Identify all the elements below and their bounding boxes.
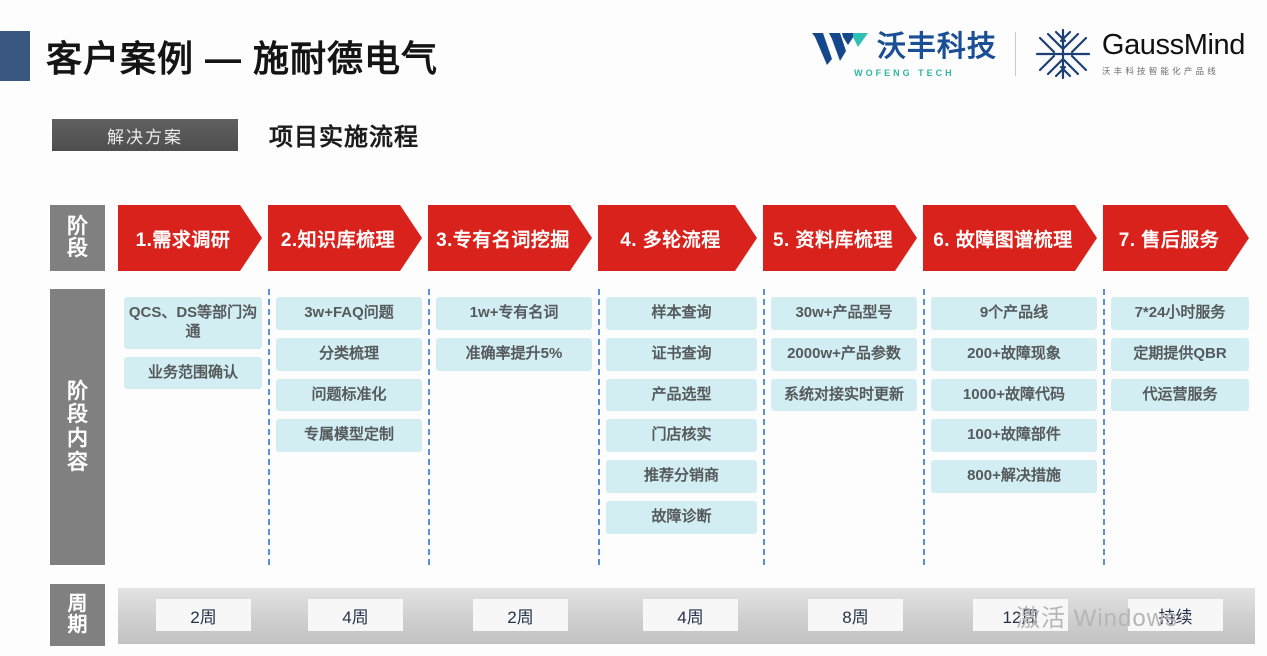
content-chip[interactable]: 故障诊断	[606, 501, 757, 534]
row-label-period-text: 周期	[66, 594, 90, 636]
phase-content-column-3: 1w+专有名词准确率提升5%	[428, 289, 598, 565]
phase-content-column-4: 样本查询证书查询产品选型门店核实推荐分销商故障诊断	[598, 289, 763, 565]
content-chip[interactable]: 9个产品线	[931, 297, 1097, 330]
logo-group: 沃丰科技 WOFENG TECH	[812, 28, 1245, 80]
gaussmind-mark-icon	[1034, 28, 1092, 80]
content-chip[interactable]: 专属模型定制	[276, 419, 422, 452]
content-chip[interactable]: 问题标准化	[276, 379, 422, 412]
content-chip[interactable]: 200+故障现象	[931, 338, 1097, 371]
phase-arrow-1[interactable]: 1.需求调研	[118, 205, 262, 271]
phase-arrow-6[interactable]: 6. 故障图谱梳理	[923, 205, 1097, 271]
row-label-stage: 阶段	[50, 205, 105, 271]
phase-arrow-3[interactable]: 3.专有名词挖掘	[428, 205, 592, 271]
content-chip[interactable]: 证书查询	[606, 338, 757, 371]
content-chip[interactable]: 门店核实	[606, 419, 757, 452]
row-label-period: 周期	[50, 584, 105, 646]
phase-period-row: 2周4周2周4周8周12周持续	[118, 588, 1255, 644]
period-chip-1[interactable]: 2周	[156, 599, 251, 631]
gaussmind-logo: GaussMind 沃丰科技智能化产品线	[1034, 28, 1245, 80]
header-accent-block	[0, 31, 30, 81]
content-chip[interactable]: 准确率提升5%	[436, 338, 592, 371]
row-label-stage-content: 阶段内容	[50, 289, 105, 565]
content-chip[interactable]: 样本查询	[606, 297, 757, 330]
content-chip[interactable]: 3w+FAQ问题	[276, 297, 422, 330]
content-chip[interactable]: 分类梳理	[276, 338, 422, 371]
content-chip[interactable]: QCS、DS等部门沟通	[124, 297, 262, 349]
phase-content-column-5: 30w+产品型号2000w+产品参数系统对接实时更新	[763, 289, 923, 565]
phase-arrow-2[interactable]: 2.知识库梳理	[268, 205, 422, 271]
logo-divider	[1015, 32, 1016, 76]
period-chip-4[interactable]: 4周	[643, 599, 738, 631]
period-chip-7[interactable]: 持续	[1128, 599, 1223, 631]
period-chip-2[interactable]: 4周	[308, 599, 403, 631]
content-chip[interactable]: 定期提供QBR	[1111, 338, 1249, 371]
phase-arrow-7[interactable]: 7. 售后服务	[1103, 205, 1249, 271]
row-label-stage-text: 阶段	[65, 216, 90, 260]
phase-arrow-4[interactable]: 4. 多轮流程	[598, 205, 757, 271]
content-chip[interactable]: 推荐分销商	[606, 460, 757, 493]
phase-content-column-7: 7*24小时服务定期提供QBR代运营服务	[1103, 289, 1255, 565]
phase-arrow-5[interactable]: 5. 资料库梳理	[763, 205, 917, 271]
section-chip: 解决方案	[52, 119, 238, 151]
wofeng-logo-cn: 沃丰科技	[877, 33, 997, 62]
phase-arrow-row: 1.需求调研2.知识库梳理3.专有名词挖掘4. 多轮流程5. 资料库梳理6. 故…	[118, 205, 1255, 271]
row-label-stage-content-text: 阶段内容	[65, 380, 90, 474]
phase-content-column-2: 3w+FAQ问题分类梳理问题标准化专属模型定制	[268, 289, 428, 565]
period-chip-6[interactable]: 12周	[973, 599, 1068, 631]
content-chip[interactable]: 代运营服务	[1111, 379, 1249, 412]
content-chip[interactable]: 1000+故障代码	[931, 379, 1097, 412]
section-title: 项目实施流程	[269, 117, 419, 152]
content-chip[interactable]: 800+解决措施	[931, 460, 1097, 493]
page-title: 客户案例 — 施耐德电气	[46, 30, 438, 82]
content-chip[interactable]: 7*24小时服务	[1111, 297, 1249, 330]
period-chip-5[interactable]: 8周	[808, 599, 903, 631]
content-chip[interactable]: 产品选型	[606, 379, 757, 412]
phase-content-column-6: 9个产品线200+故障现象1000+故障代码100+故障部件800+解决措施	[923, 289, 1103, 565]
wofeng-logo: 沃丰科技 WOFENG TECH	[812, 31, 997, 78]
phase-content-row: QCS、DS等部门沟通业务范围确认3w+FAQ问题分类梳理问题标准化专属模型定制…	[118, 289, 1255, 565]
wofeng-w-icon	[812, 31, 868, 65]
content-chip[interactable]: 2000w+产品参数	[771, 338, 917, 371]
content-chip[interactable]: 100+故障部件	[931, 419, 1097, 452]
wofeng-logo-en: WOFENG TECH	[854, 68, 955, 78]
content-chip[interactable]: 1w+专有名词	[436, 297, 592, 330]
content-chip[interactable]: 系统对接实时更新	[771, 379, 917, 412]
content-chip[interactable]: 业务范围确认	[124, 357, 262, 390]
content-chip[interactable]: 30w+产品型号	[771, 297, 917, 330]
gaussmind-logo-name: GaussMind	[1102, 31, 1245, 60]
phase-content-column-1: QCS、DS等部门沟通业务范围确认	[118, 289, 268, 565]
period-chip-3[interactable]: 2周	[473, 599, 568, 631]
slide-canvas: 客户案例 — 施耐德电气 沃丰科技 WOFENG TECH	[0, 0, 1267, 656]
gaussmind-logo-sub: 沃丰科技智能化产品线	[1102, 65, 1245, 77]
